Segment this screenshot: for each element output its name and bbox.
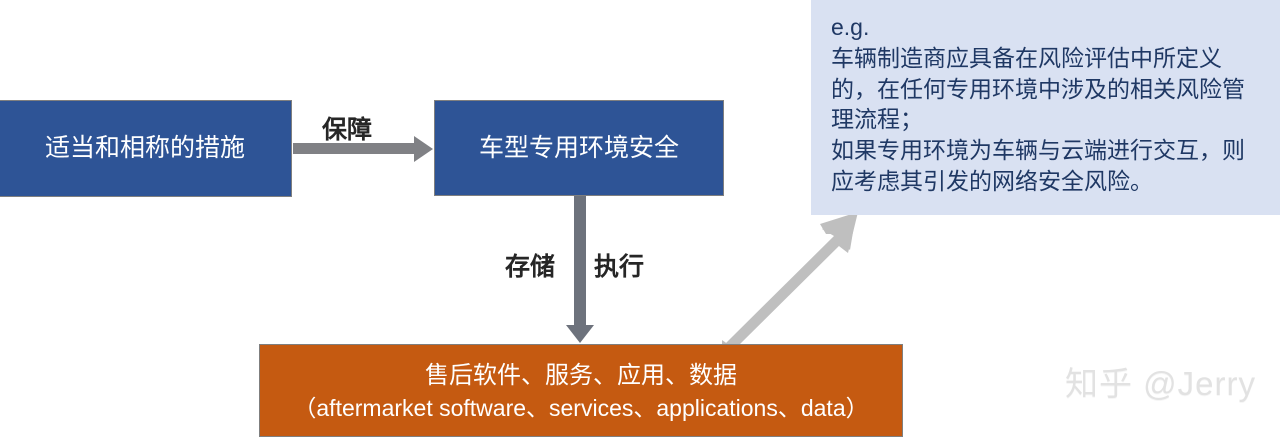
node-vehicle-type-environment-security-label: 车型专用环境安全: [479, 133, 679, 164]
edge-label-cunchu: 存储: [505, 247, 555, 283]
watermark-zhihu-jerry: 知乎 @Jerry: [1065, 357, 1256, 405]
diagram-canvas: 适当和相称的措施 保障 车型专用环境安全 存储 执行 售后软件、服务、应用、数据…: [0, 0, 1280, 437]
edge-label-zhixing: 执行: [594, 247, 644, 283]
node-aftermarket-assets-label-en: （aftermarket software、services、applicati…: [293, 394, 868, 422]
arrow-env-security-to-aftermarket: [574, 196, 586, 326]
node-aftermarket-assets[interactable]: 售后软件、服务、应用、数据 （aftermarket software、serv…: [259, 344, 903, 437]
arrow-aftermarket-to-note: [722, 212, 862, 347]
node-aftermarket-assets-label-cn: 售后软件、服务、应用、数据: [425, 361, 737, 390]
node-vehicle-type-environment-security[interactable]: 车型专用环境安全: [434, 100, 724, 196]
note-example-callout: e.g. 车辆制造商应具备在风险评估中所定义的，在任何专用环境中涉及的相关风险管…: [811, 0, 1280, 215]
node-appropriate-measures[interactable]: 适当和相称的措施: [0, 100, 292, 197]
node-appropriate-measures-label: 适当和相称的措施: [45, 133, 245, 164]
edge-label-baozhang: 保障: [322, 110, 372, 146]
